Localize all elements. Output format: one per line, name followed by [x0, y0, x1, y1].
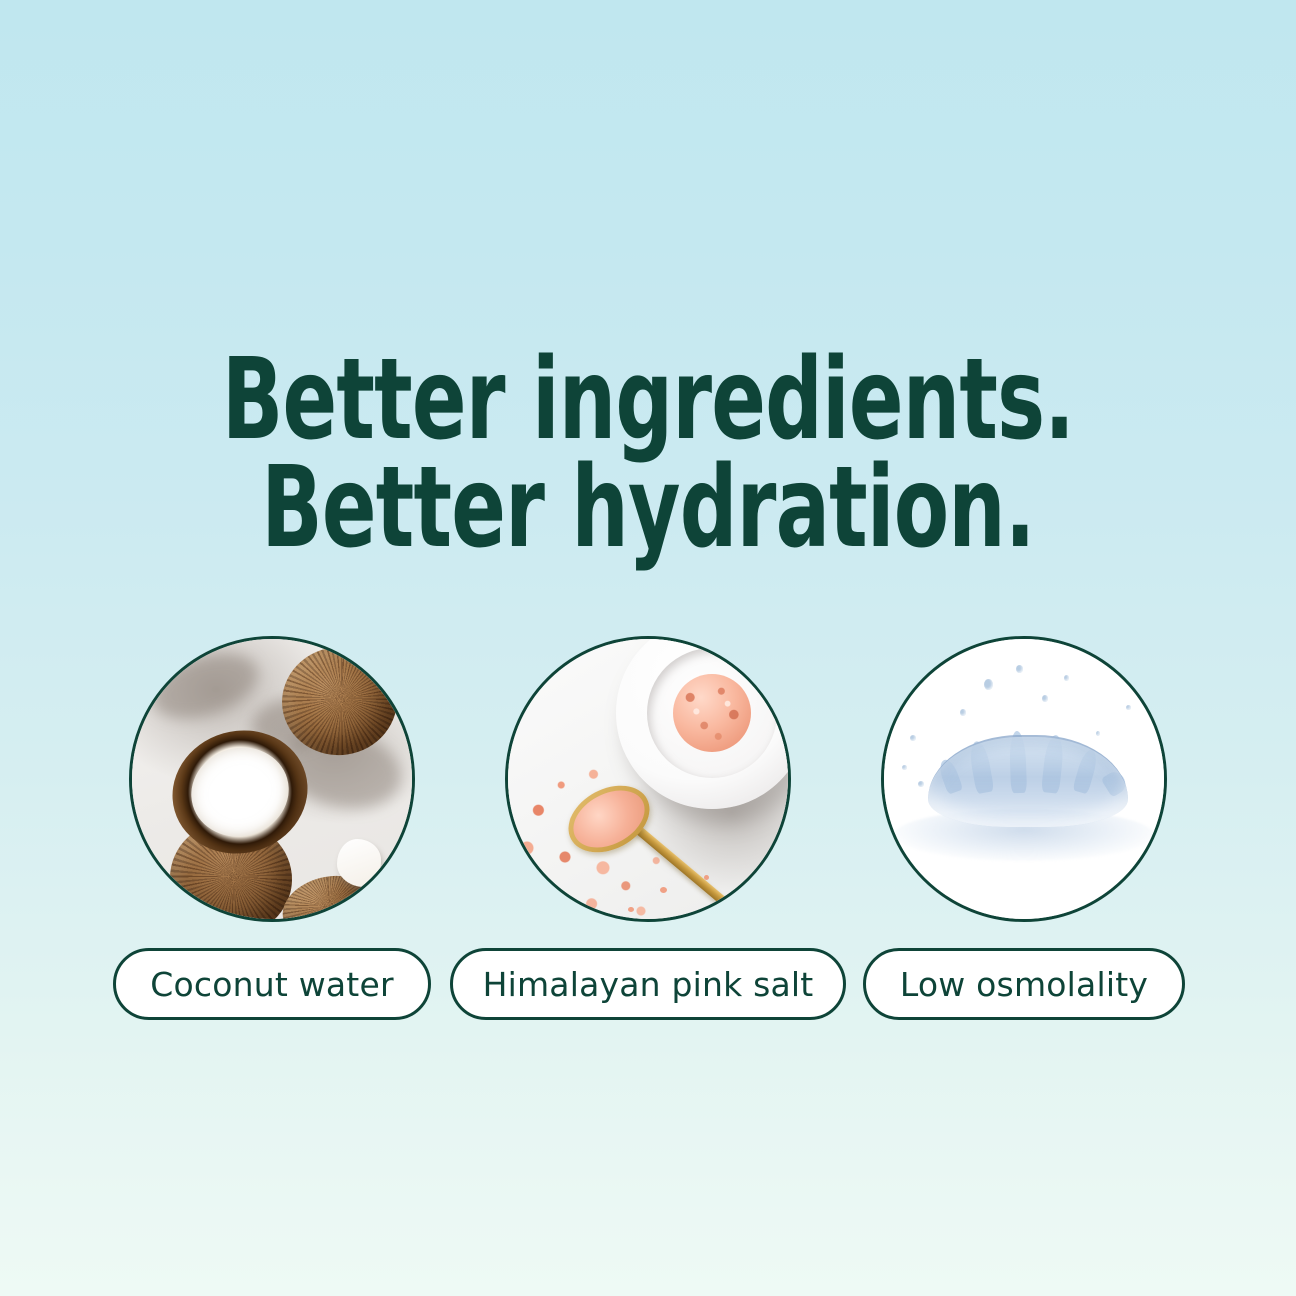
water-splash-photo-art [884, 639, 1164, 919]
feature-card-row: Coconut water [0, 636, 1296, 1020]
coconut-flesh-chip [337, 839, 381, 887]
coconut-piece-flesh [293, 904, 370, 922]
salt-mound [673, 674, 751, 752]
headline-line-1: Better ingredients. [130, 347, 1167, 455]
feature-label-low-osmolality[interactable]: Low osmolality [863, 948, 1185, 1020]
salt-fleck-1 [660, 887, 667, 893]
water-splash-photo [881, 636, 1167, 922]
water-droplet-2 [1016, 665, 1023, 673]
feature-label-text: Coconut water [150, 965, 393, 1004]
salt-fleck-2 [704, 875, 709, 880]
water-crown-body [928, 735, 1128, 827]
water-droplet-10 [1096, 731, 1100, 736]
water-droplet-5 [1064, 675, 1069, 681]
coconut-shadow-1 [144, 641, 267, 730]
water-droplet-6 [910, 735, 916, 741]
feature-label-himalayan-pink-salt[interactable]: Himalayan pink salt [450, 948, 847, 1020]
feature-card-coconut-water[interactable]: Coconut water [108, 636, 436, 1020]
water-droplet-9 [1126, 705, 1131, 710]
water-droplet-8 [918, 781, 924, 787]
water-crown-splash [928, 735, 1128, 827]
headline-line-2: Better hydration. [130, 455, 1167, 563]
feature-label-text: Low osmolality [900, 965, 1148, 1004]
page-title: Better ingredients. Better hydration. [130, 347, 1167, 562]
feature-card-himalayan-pink-salt[interactable]: Himalayan pink salt [484, 636, 812, 1020]
water-droplet-3 [1042, 695, 1048, 702]
feature-label-text: Himalayan pink salt [483, 965, 814, 1004]
water-droplet-1 [984, 679, 993, 690]
pink-salt-photo [505, 636, 791, 922]
pink-salt-photo-art [508, 639, 788, 919]
water-droplet-7 [902, 765, 907, 770]
feature-card-low-osmolality[interactable]: Low osmolality [860, 636, 1188, 1020]
coconut-photo-art [132, 639, 412, 919]
ingredient-promo-poster: Better ingredients. Better hydration. [0, 0, 1296, 1296]
feature-label-coconut-water[interactable]: Coconut water [113, 948, 430, 1020]
water-droplet-4 [960, 709, 966, 716]
salt-fleck-3 [628, 907, 634, 912]
coconut-photo [129, 636, 415, 922]
